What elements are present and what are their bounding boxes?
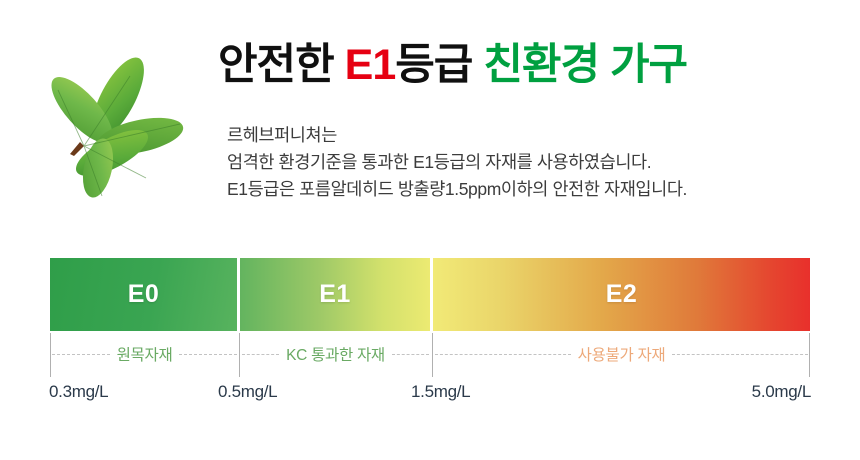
caption-e1: KC 통과한 자재 [242,342,429,366]
body-line-2: 엄격한 환경기준을 통과한 E1등급의 자재를 사용하였습니다. [227,149,687,176]
grade-label-e2: E2 [606,280,638,309]
caption-dash-right-e2 [672,354,808,355]
axis-value-3: 5.0mg/L [752,382,811,402]
caption-text-e2: 사용불가 자재 [578,343,666,365]
title-segment-grade: E1 [345,41,396,89]
caption-text-e0: 원목자재 [117,343,173,365]
title-segment-black-1: 안전한 [218,41,345,89]
caption-dash-right-e1 [392,354,429,355]
emission-grade-scale: E0 E1 E2 원목자재 KC 통과한 자재 [50,258,810,408]
body-copy: 르헤브퍼니쳐는 엄격한 환경기준을 통과한 E1등급의 자재를 사용하였습니다.… [227,122,687,203]
caption-dash-right-e0 [179,354,237,355]
caption-e0: 원목자재 [52,342,237,366]
caption-row: 원목자재 KC 통과한 자재 사용불가 자재 [50,342,810,366]
title-segment-black-2: 등급 [395,41,483,89]
axis-value-0: 0.3mg/L [49,382,108,402]
grade-label-e0: E0 [128,280,160,309]
axis-value-1: 0.5mg/L [218,382,277,402]
leaf-stem-group [42,50,186,200]
body-line-1: 르헤브퍼니쳐는 [227,122,687,149]
caption-e2: 사용불가 자재 [435,342,808,366]
grade-segment-e0: E0 [50,258,237,331]
grade-segment-e2: E2 [433,258,810,331]
page-title: 안전한 E1등급 친환경 가구 [218,44,687,87]
infographic-page: 안전한 E1등급 친환경 가구 르헤브퍼니쳐는 엄격한 환경기준을 통과한 E1… [0,0,860,460]
grade-segment-e1: E1 [240,258,430,331]
leaf-photo [22,28,202,208]
body-line-3: E1등급은 포름알데히드 방출량1.5ppm이하의 안전한 자재입니다. [227,176,687,203]
caption-text-e1: KC 통과한 자재 [286,343,385,365]
title-segment-eco: 친환경 가구 [483,41,687,89]
grade-label-e1: E1 [319,280,351,309]
axis-value-2: 1.5mg/L [411,382,470,402]
gradient-bar: E0 E1 E2 [50,258,810,331]
caption-dash-left-e0 [52,354,110,355]
caption-dash-left-e1 [242,354,279,355]
caption-dash-left-e2 [435,354,571,355]
